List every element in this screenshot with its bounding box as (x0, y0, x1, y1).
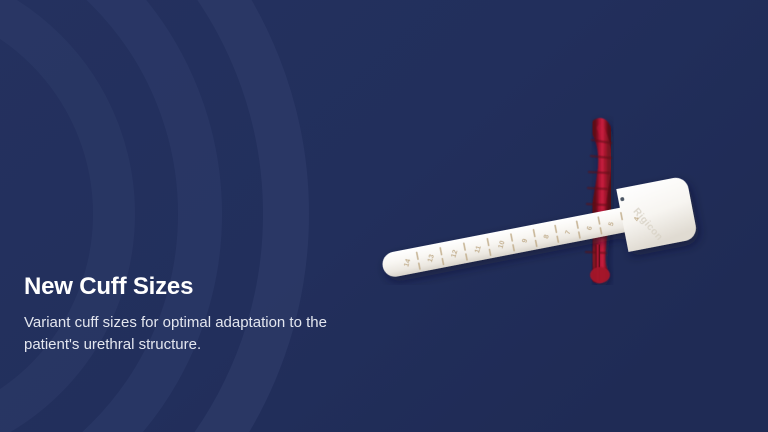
page-title: New Cuff Sizes (24, 274, 444, 300)
ring-inner (0, 0, 114, 432)
ring-outer (0, 0, 286, 432)
page-subtitle: Variant cuff sizes for optimal adaptatio… (24, 312, 384, 356)
cuff-sizer-ruler: Rigicon 14 13 12 11 10 9 8 7 6 5 4 (377, 176, 698, 285)
ring-middle (0, 0, 200, 432)
text-block: New Cuff Sizes Variant cuff sizes for op… (24, 274, 444, 356)
slide-canvas: Rigicon 14 13 12 11 10 9 8 7 6 5 4 (0, 0, 768, 432)
product-image: Rigicon 14 13 12 11 10 9 8 7 6 5 4 (360, 110, 730, 285)
cuff-tube-front (590, 250, 610, 283)
